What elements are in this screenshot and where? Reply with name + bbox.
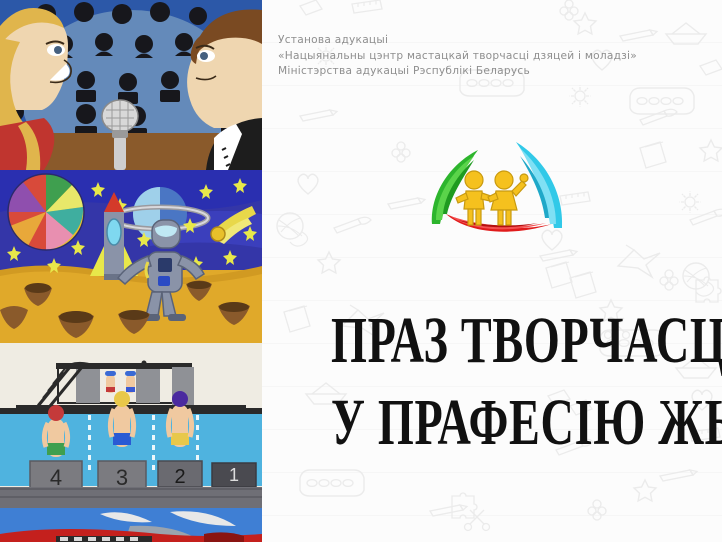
poster-title: ПРАЗ ТВОРЧАСЦЬ У ПРАФЕСІЮ ЖЫЦЦЯ — [262, 300, 722, 464]
organization-line-3: Міністэрства адукацыі Рэспублікі Беларус… — [278, 64, 698, 80]
organization-line-1: Установа адукацыі — [278, 33, 698, 49]
poster-root: 4 3 2 1 — [0, 0, 722, 542]
artwork-panel-interview — [0, 0, 262, 170]
organization-block: Установа адукацыі «Нацыянальны цэнтр мас… — [278, 33, 698, 80]
poster-title-line-2: У ПРАФЕСІЮ ЖЫЦЦЯ — [331, 382, 653, 464]
artwork-panel-space — [0, 170, 262, 343]
svg-text:2: 2 — [174, 466, 185, 488]
poster-title-line-1: ПРАЗ ТВОРЧАСЦЬ — [331, 300, 653, 382]
svg-text:1: 1 — [229, 465, 239, 485]
artwork-panel-swimming: 4 3 2 1 — [0, 343, 262, 508]
artwork-panel-vehicle — [0, 508, 262, 542]
organization-logo — [412, 128, 584, 240]
svg-text:4: 4 — [50, 465, 62, 490]
content-area: Установа адукацыі «Нацыянальны цэнтр мас… — [262, 0, 722, 542]
artwork-column: 4 3 2 1 — [0, 0, 262, 542]
svg-text:3: 3 — [116, 465, 128, 490]
organization-line-2: «Нацыянальны цэнтр мастацкай творчасці д… — [278, 49, 698, 65]
logo-icon — [412, 128, 584, 240]
